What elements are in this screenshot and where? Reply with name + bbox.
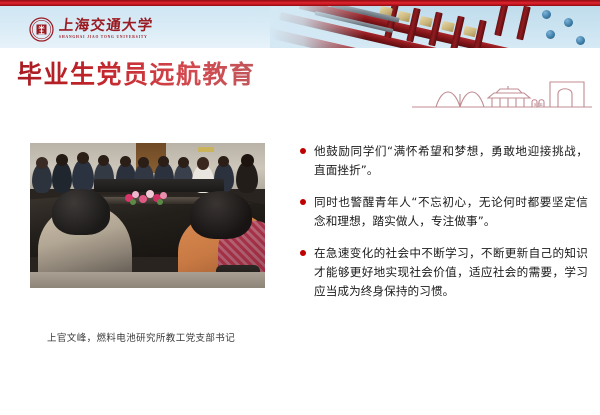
photo-flower	[160, 192, 167, 199]
bullet-list: 他鼓励同学们“满怀希望和梦想，勇敢地迎接挑战，直面挫折”。 同时也警醒青年人“不…	[300, 142, 588, 314]
meeting-photo-content	[30, 143, 265, 288]
photo-foliage	[157, 199, 163, 205]
roof-finial	[546, 30, 555, 39]
skyline-label: sjtu	[534, 102, 543, 108]
university-logo-lockup: 上海交通大学 SHANGHAI JIAO TONG UNIVERSITY	[29, 17, 153, 42]
photo-attendee-head	[98, 155, 109, 166]
photo-foreground-head-right	[190, 191, 252, 239]
photo-attendee-head	[218, 156, 229, 167]
bullet-text: 在急速变化的社会中不断学习，不断更新自己的知识才能够更好地实现社会价值，适应社会…	[314, 244, 588, 301]
photo-attendee-head	[56, 154, 68, 166]
photo-foreground-head-left	[52, 189, 110, 235]
university-name-cn: 上海交通大学	[58, 19, 154, 34]
photo-attendee-head	[197, 157, 209, 170]
bullet-text: 同时也警醒青年人“不忘初心，无论何时都要坚定信念和理想，踏实做人，专注做事”。	[314, 193, 588, 231]
photo-attendee-head	[158, 156, 169, 167]
list-item: 同时也警醒青年人“不忘初心，无论何时都要坚定信念和理想，踏实做人，专注做事”。	[300, 193, 588, 231]
photo-attendee-head	[77, 152, 89, 164]
photo-floor	[30, 272, 265, 288]
campus-skyline-icon: sjtu	[412, 74, 592, 112]
temple-roof-photo	[270, 6, 600, 48]
photo-attendee-head	[120, 156, 131, 167]
photo-foliage	[130, 199, 136, 205]
photo-caption: 上官文峰，燃料电池研究所教工党支部书记	[47, 330, 235, 344]
list-item: 在急速变化的社会中不断学习，不断更新自己的知识才能够更好地实现社会价值，适应社会…	[300, 244, 588, 301]
bullet-text: 他鼓励同学们“满怀希望和梦想，勇敢地迎接挑战，直面挫折”。	[314, 142, 588, 180]
header-banner: 上海交通大学 SHANGHAI JIAO TONG UNIVERSITY	[0, 6, 600, 48]
photo-flower-arrangement	[125, 190, 171, 204]
photo-flower	[132, 191, 139, 198]
presentation-slide: 上海交通大学 SHANGHAI JIAO TONG UNIVERSITY 毕业生…	[0, 0, 600, 415]
roof-finial	[576, 36, 585, 45]
photo-attendee-head	[241, 154, 254, 167]
bullet-dot-icon	[300, 199, 306, 205]
photo-attendee-head	[138, 157, 149, 168]
bullet-dot-icon	[300, 148, 306, 154]
meeting-photo	[30, 143, 265, 288]
university-name-en: SHANGHAI JIAO TONG UNIVERSITY	[59, 36, 153, 40]
photo-wall-plaque	[198, 147, 214, 152]
university-wordmark: 上海交通大学 SHANGHAI JIAO TONG UNIVERSITY	[59, 19, 153, 39]
photo-attendee	[72, 159, 94, 193]
photo-attendee-head	[178, 157, 189, 168]
photo-attendee-head	[36, 157, 48, 169]
banner-gradient-fade	[270, 6, 365, 48]
list-item: 他鼓励同学们“满怀希望和梦想，勇敢地迎接挑战，直面挫折”。	[300, 142, 588, 180]
roof-finial	[542, 10, 551, 19]
bullet-dot-icon	[300, 250, 306, 256]
roof-finial	[564, 18, 573, 27]
slide-title: 毕业生党员远航教育	[17, 55, 256, 91]
university-seal-icon	[29, 17, 54, 42]
